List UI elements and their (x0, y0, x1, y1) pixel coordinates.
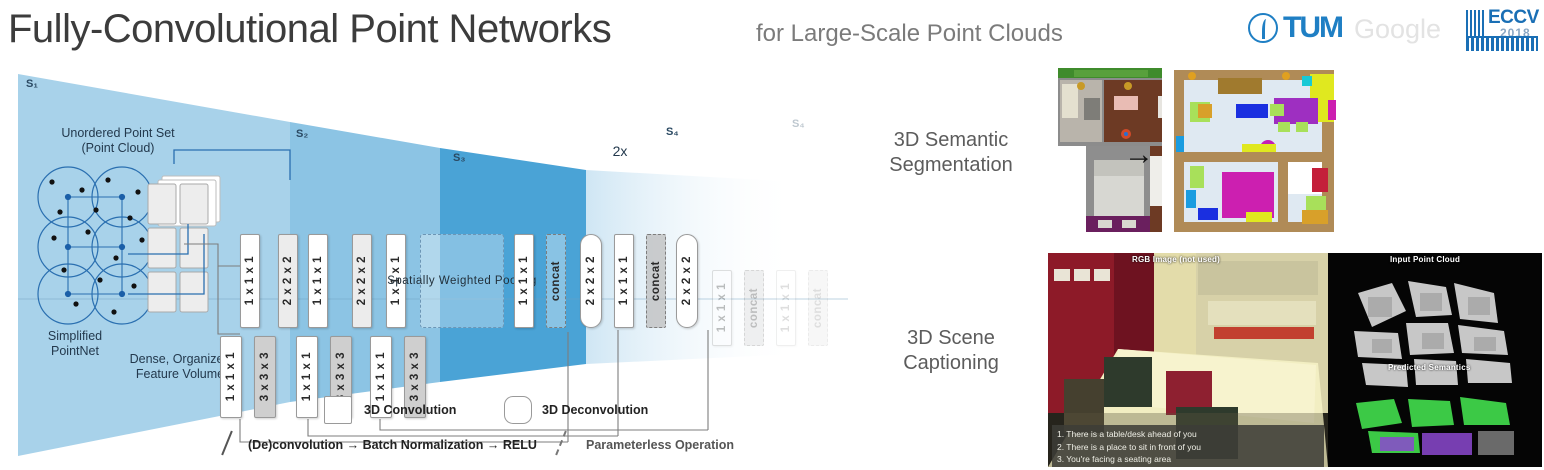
block-label: 2 x 2 x 2 (282, 256, 294, 305)
eccv-wordmark: ECCV (1488, 8, 1539, 27)
block-conv-1x1x1-a[interactable]: 1 x 1 x 1 (240, 234, 260, 328)
page-subtitle: for Large-Scale Point Clouds (756, 20, 1063, 48)
legend-pipeline-label: (De)convolution → Batch Normalization → … (248, 438, 537, 452)
block-conv-1x1x1-f[interactable]: 1 x 1 x 1 (712, 270, 732, 346)
tum-seal-icon (1248, 13, 1278, 43)
app-label-scene-captioning: 3D Scene Captioning (862, 326, 1040, 376)
app1-label-line1: 3D Semantic (862, 128, 1040, 153)
block-concat-d[interactable]: concat (808, 270, 828, 346)
app2-label-line1: 3D Scene (862, 326, 1040, 351)
thumb-semantic-segmentation-result (1162, 60, 1348, 240)
block-conv-1x1x1-b[interactable]: 1 x 1 x 1 (308, 234, 328, 328)
legend-conv-swatch (324, 396, 352, 424)
app2-label-line2: Captioning (862, 351, 1040, 376)
block-deconv-2x2x2-a[interactable]: 2 x 2 x 2 (580, 234, 602, 328)
scene-caption-box: 1. There is a table/desk ahead of you 2.… (1052, 425, 1324, 467)
diagram-legend: 3D Convolution 3D Deconvolution (De)conv… (8, 394, 858, 464)
block-label: 1 x 1 x 1 (618, 256, 630, 305)
google-logo: Google (1354, 14, 1441, 45)
architecture-diagram: S₁ S₂ S₃ S₄ S₄ Unordered Point Set (Poin… (8, 64, 858, 466)
page-title: Fully-Convolutional Point Networks (8, 6, 611, 52)
block-label: 2 x 2 x 2 (356, 256, 368, 305)
block-conv-2x2x2-a[interactable]: 2 x 2 x 2 (278, 234, 298, 328)
legend-solid-line-swatch (221, 431, 233, 456)
arrow-right-icon: → (1124, 140, 1154, 170)
predicted-semantics-caption: Predicted Semantics (1388, 363, 1471, 372)
thumb-rgb-room-photo: 1. There is a table/desk ahead of you 2.… (1048, 253, 1328, 467)
scene-caption-2: 2. There is a place to sit in front of y… (1057, 441, 1319, 454)
eccv-base-icon (1466, 36, 1538, 51)
block-spatially-weighted-pooling[interactable]: Spatially Weighted Pooling (420, 234, 504, 328)
block-label: concat (650, 261, 662, 301)
tum-logo: TUM (1248, 12, 1342, 44)
rgb-image-caption: RGB Image (not used) (1132, 255, 1220, 264)
block-label: concat (748, 288, 760, 328)
block-deconv-2x2x2-b[interactable]: 2 x 2 x 2 (676, 234, 698, 328)
block-label: 1 x 1 x 1 (312, 256, 324, 305)
eccv-logo: ECCV 2018 (1466, 6, 1538, 50)
applications-panel: 3D Semantic Segmentation (862, 60, 1542, 470)
app1-label-line2: Segmentation (862, 153, 1040, 178)
block-conv-1x1x1-d[interactable]: 1 x 1 x 1 (514, 234, 534, 328)
legend-deconv-label: 3D Deconvolution (542, 403, 648, 417)
block-label: concat (550, 261, 562, 301)
legend-deconv-swatch (504, 396, 532, 424)
block-label: 1 x 1 x 1 (244, 256, 256, 305)
block-conv-1x1x1-g[interactable]: 1 x 1 x 1 (776, 270, 796, 346)
block-label: 1 x 1 x 1 (716, 283, 728, 332)
legend-conv-label: 3D Convolution (364, 403, 456, 417)
scene-caption-1: 1. There is a table/desk ahead of you (1057, 428, 1319, 441)
page-header: Fully-Convolutional Point Networks for L… (0, 0, 1544, 62)
block-label: 2 x 2 x 2 (585, 256, 597, 305)
app-label-semantic-segmentation: 3D Semantic Segmentation (862, 128, 1040, 178)
block-concat-b[interactable]: concat (646, 234, 666, 328)
block-label: 2 x 2 x 2 (681, 256, 693, 305)
segmentation-illustration (1162, 60, 1348, 240)
point-cloud-caption: Input Point Cloud (1390, 255, 1460, 264)
legend-parameterless-label: Parameterless Operation (586, 438, 734, 452)
block-concat-c[interactable]: concat (744, 270, 764, 346)
block-label: concat (812, 288, 824, 328)
legend-dashed-line-swatch (555, 431, 567, 456)
tum-wordmark: TUM (1283, 11, 1342, 45)
block-label: 1 x 1 x 1 (780, 283, 792, 332)
scene-caption-3: 3. You're facing a seating area (1057, 453, 1319, 466)
thumb-point-cloud-and-semantics: Input Point Cloud Predicted Semantics (1328, 253, 1542, 467)
block-concat-a[interactable]: concat (546, 234, 566, 328)
block-label: 1 x 1 x 1 (518, 256, 530, 305)
block-conv-1x1x1-e[interactable]: 1 x 1 x 1 (614, 234, 634, 328)
block-conv-2x2x2-b[interactable]: 2 x 2 x 2 (352, 234, 372, 328)
point-cloud-illustration-2 (1328, 253, 1542, 467)
